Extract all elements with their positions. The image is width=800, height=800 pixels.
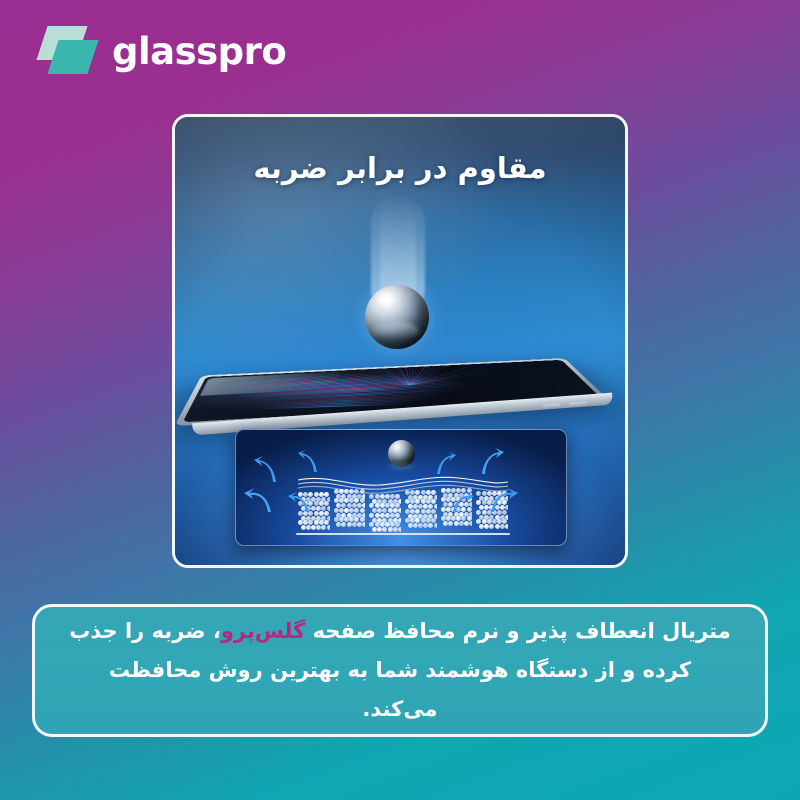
bead-column [369,488,401,532]
bead-column [334,488,366,532]
energy-dispersion-arrow-icon [434,452,456,476]
energy-dispersion-arrow-icon [244,488,274,514]
bead [500,524,505,529]
brand-mention: گلس‌پرو [221,619,305,643]
bead [321,525,326,530]
molecular-beads-column-icon [298,488,508,532]
product-image-card: مقاوم در برابر ضربه [172,114,628,568]
energy-dispersion-arrow-icon [298,450,320,474]
bead [382,527,387,532]
bead [448,521,453,526]
description-part-1: متریال انعطاف پذیر و نرم محافظ صفحه [305,619,730,643]
glasspro-logo-icon [40,26,98,76]
bead [327,525,330,530]
bead [388,527,393,532]
description-text: متریال انعطاف پذیر و نرم محافظ صفحه گلس‌… [69,612,731,729]
bead [362,522,365,527]
bead [341,522,346,527]
energy-dispersion-arrow-icon [254,456,280,484]
bead [428,523,433,528]
bead [495,524,500,529]
bead [454,521,459,526]
diagram-steel-ball-icon [388,440,415,467]
bead [393,527,398,532]
energy-dispersion-arrow-icon [478,448,504,476]
description-card: متریال انعطاف پذیر و نرم محافظ صفحه گلس‌… [32,604,768,737]
tablet-button-icon [542,403,560,408]
brand-logo[interactable]: glasspro [40,26,286,76]
tablet-button-icon [568,402,586,407]
shock-absorption-diagram [235,429,567,546]
bead [469,521,472,526]
bead [434,523,437,528]
energy-dispersion-arrow-icon [450,492,474,514]
bead-column [405,488,437,532]
product-headline: مقاوم در برابر ضربه [175,151,625,185]
poster-canvas: glasspro مقاوم در برابر ضربه [0,0,800,800]
bead [398,527,401,532]
bead [301,525,306,530]
diagram-base-line [296,533,510,535]
bead [505,524,508,529]
energy-dispersion-arrow-icon [488,488,518,514]
bead [408,523,413,528]
brand-name: glasspro [112,33,286,70]
chrome-steel-ball-icon [365,285,429,349]
energy-dispersion-arrow-icon [288,492,312,514]
bead [489,524,494,529]
bead [347,522,352,527]
